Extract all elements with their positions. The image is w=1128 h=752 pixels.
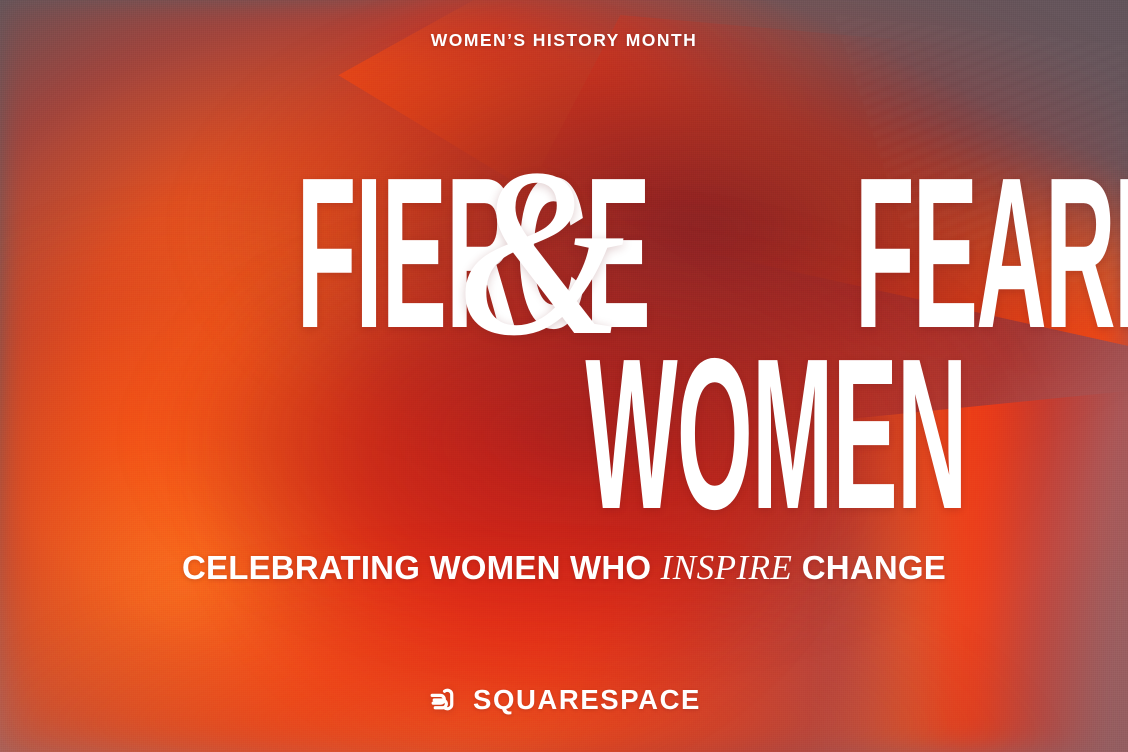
- subtitle-after: CHANGE: [802, 549, 946, 586]
- headline: FIERCE&FEARLESS WOMEN: [0, 150, 1128, 520]
- subtitle-emphasis: INSPIRE: [661, 548, 793, 587]
- poster-content: WOMEN’S HISTORY MONTH FIERCE&FEARLESS WO…: [0, 0, 1128, 752]
- subtitle-before: CELEBRATING WOMEN WHO: [182, 549, 651, 586]
- brand-lockup: SQUARESPACE: [0, 683, 1128, 716]
- headline-word-women: WOMEN: [585, 348, 966, 520]
- squarespace-logo-icon: [427, 683, 460, 716]
- womens-history-month-poster: WOMEN’S HISTORY MONTH FIERCE&FEARLESS WO…: [0, 0, 1128, 752]
- squarespace-wordmark: SQUARESPACE: [473, 686, 701, 714]
- kicker-text: WOMEN’S HISTORY MONTH: [0, 32, 1128, 50]
- subtitle: CELEBRATING WOMEN WHO INSPIRE CHANGE: [0, 550, 1128, 585]
